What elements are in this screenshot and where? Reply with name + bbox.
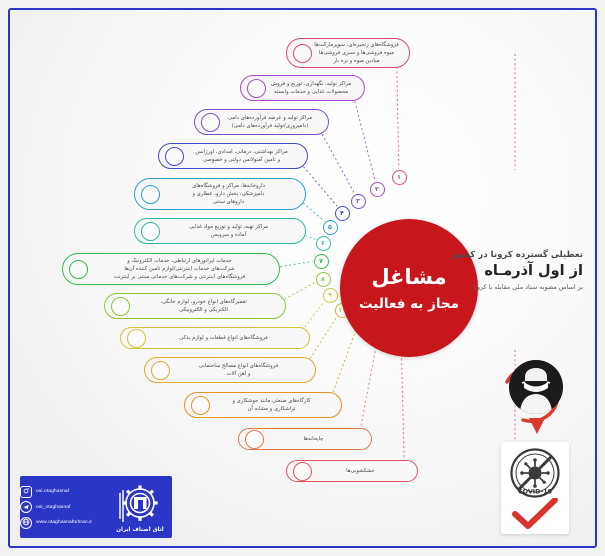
connector-line [401,337,405,471]
covid-card: COVID-19 [501,442,569,534]
covid-stamp-icon: COVID-19 [510,448,560,498]
item-pill-knob [69,260,88,279]
item-number-badge[interactable]: ۷ [314,254,329,269]
item-pill[interactable]: مراکز تولید و عرضه فرآورده‌های دامی (دام… [194,109,329,135]
item-pill-label: مراکز تولید و عرضه فرآورده‌های دامی (دام… [220,114,322,130]
item-pill-knob [201,113,220,132]
item-pill-label: چاپخانه‌ها [264,435,365,443]
social-handle-row[interactable]: www.otaghasnaftehran.ir [20,517,110,529]
red-check-icon [511,498,559,530]
telegram-icon [20,501,32,513]
item-pill-label: داروخانه‌ها، مراکز و فروشگاه‌های دامپزشک… [160,182,299,207]
item-pill[interactable]: خدمات اپراتورهای ارتباطی، خدمات الکترونی… [62,253,280,285]
item-pill[interactable]: فروشگاه‌های انواع قطعات و لوازم یدکی [120,327,310,349]
item-pill-knob [141,222,160,241]
item-pill-label: مراکز تهیه، تولید و توزیع مواد غذایی آما… [160,223,299,239]
item-pill-knob [245,430,264,449]
instagram-icon [20,486,32,498]
infographic-canvas: فروشگاه‌های زنجیره‌ای، سوپرمارکت‌ها میوه… [8,8,597,548]
item-pill[interactable]: کارگاه‌های صنعتی مانند جوشکاری و تراشکار… [184,392,342,418]
item-number-badge[interactable]: ۴ [335,206,350,221]
social-handle-label: osi_otaghasnaf [36,505,71,510]
item-pill-label: فروشگاه‌های زنجیره‌ای، سوپرمارکت‌ها میوه… [312,41,403,66]
masked-person-icon [509,360,563,414]
item-pill-knob [151,361,170,380]
item-pill-knob [141,185,160,204]
item-pill-knob [165,147,184,166]
item-pill[interactable]: خشکشویی‌ها [286,460,418,482]
globe-icon [20,517,32,529]
social-handle-row[interactable]: osi_otaghasnaf [20,501,110,513]
item-pill[interactable]: فروشگاه‌های انواع مصالح ساختمانی و آهن آ… [144,357,316,383]
item-pill-label: مراکز بهداشتی، درمانی، امدادی، اورژانس و… [184,148,301,164]
item-pill-knob [111,297,130,316]
headline-line3: بر اساس مصوبه ستاد ملی مقابله با کرونا [411,283,583,291]
item-pill-label: فروشگاه‌های انواع مصالح ساختمانی و آهن آ… [170,362,309,378]
item-pill[interactable]: داروخانه‌ها، مراکز و فروشگاه‌های دامپزشک… [134,178,306,210]
item-pill-knob [127,329,146,348]
item-pill[interactable]: چاپخانه‌ها [238,428,372,450]
item-pill-label: خشکشویی‌ها [312,467,411,475]
footer-logo-panel: اتاق اصناف ایران osi.otaghasnafosi_otagh… [20,476,172,538]
headline-block: تعطیلی گسترده کرونا در کشور از اول آذرمـ… [411,250,583,291]
item-number-badge[interactable]: ۵ [323,220,338,235]
item-pill[interactable]: تعمیرگاه‌های انواع خودرو، لوازم خانگی، ا… [104,293,286,319]
headline-line2: از اول آذرمـاه [411,263,583,279]
covid-stamp-bottom-label: COVID-19 [518,488,553,496]
connector-line [352,88,378,188]
item-number-badge[interactable]: ۳ [351,194,366,209]
headline-line1: تعطیلی گسترده کرونا در کشور [411,250,583,260]
covid-illustration: COVID-19 [493,360,579,540]
item-pill-knob [293,462,312,481]
item-pill-label: فروشگاه‌های انواع قطعات و لوازم یدکی [146,334,303,342]
social-handle-row[interactable]: osi.otaghasnaf [20,486,110,498]
item-number-badge[interactable]: ۶ [316,236,331,251]
org-name-label: اتاق اصناف ایران [114,527,166,533]
social-handle-list: osi.otaghasnafosi_otaghasnafwww.otaghasn… [20,482,112,532]
item-pill-label: خدمات اپراتورهای ارتباطی، خدمات الکترونی… [88,257,273,282]
social-handle-label: osi.otaghasnaf [36,489,69,494]
connector-line [397,53,400,176]
item-pill[interactable]: مراکز بهداشتی، درمانی، امدادی، اورژانس و… [158,143,308,169]
item-pill-knob [191,396,210,415]
item-pill-knob [293,44,312,63]
item-number-badge[interactable]: ۱ [392,170,407,185]
item-pill[interactable]: فروشگاه‌های زنجیره‌ای، سوپرمارکت‌ها میوه… [286,38,410,68]
item-number-badge[interactable]: ۲ [370,182,385,197]
infographic-page: فروشگاه‌های زنجیره‌ای، سوپرمارکت‌ها میوه… [0,0,605,556]
item-pill-label: مراکز تولید، نگهداری، توزیع و فروش محصول… [266,80,358,96]
item-pill[interactable]: مراکز تهیه، تولید و توزیع مواد غذایی آما… [134,218,306,244]
social-handle-label: www.otaghasnaftehran.ir [36,520,92,525]
item-pill-knob [247,79,266,98]
org-logo-icon: اتاق اصناف ایران [112,479,168,535]
item-pill-label: تعمیرگاه‌های انواع خودرو، لوازم خانگی، ا… [130,298,279,314]
item-number-badge[interactable]: ۹ [323,288,338,303]
item-pill-label: کارگاه‌های صنعتی مانند جوشکاری و تراشکار… [210,397,335,413]
item-pill[interactable]: مراکز تولید، نگهداری، توزیع و فروش محصول… [240,75,365,101]
center-title-line2: مجاز به فعالیت [359,296,459,312]
item-number-badge[interactable]: ۸ [316,272,331,287]
